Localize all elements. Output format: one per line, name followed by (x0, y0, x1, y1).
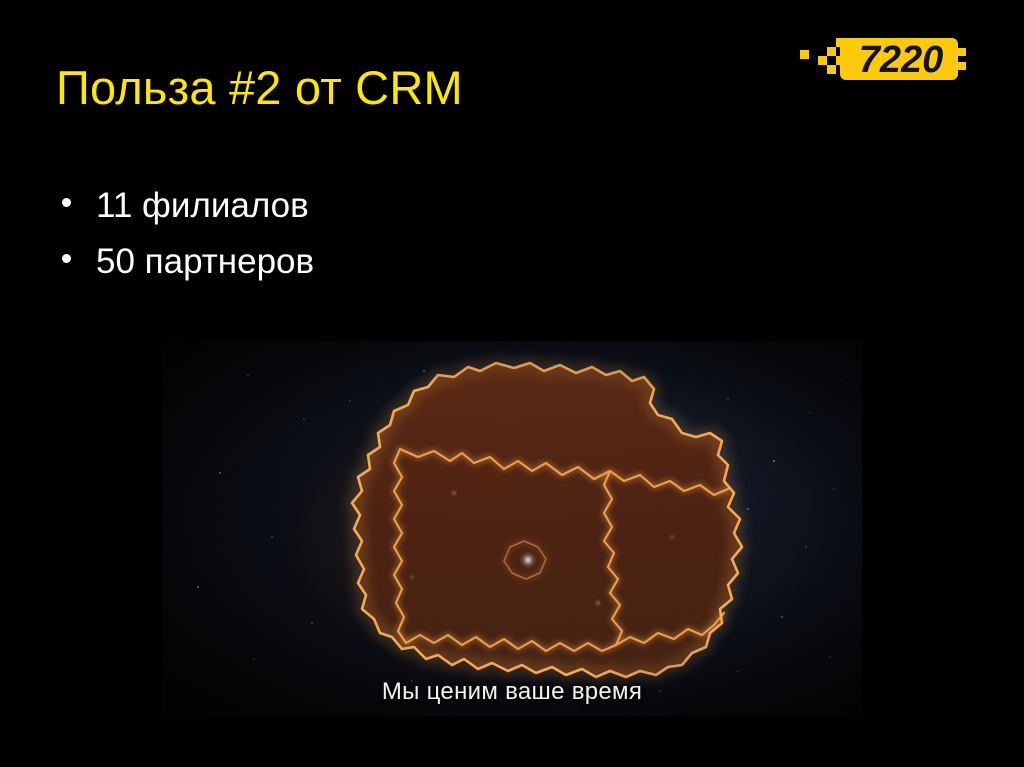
company-logo-7220[interactable]: 7220 (796, 30, 982, 88)
slide-image-belarus-map: Мы ценим ваше время (162, 341, 862, 716)
logo-svg: 7220 (796, 30, 982, 88)
belarus-map-illustration (162, 341, 862, 716)
bullet-dot-icon (56, 242, 96, 276)
logo-number: 7220 (859, 39, 944, 81)
list-item-label: 50 партнеров (96, 244, 314, 279)
list-item: 50 партнеров (56, 244, 756, 300)
bullet-list: 11 филиалов 50 партнеров (56, 188, 756, 300)
vignette-overlay (162, 341, 862, 716)
bullet-dot-icon (56, 186, 96, 220)
page-title: Польза #2 от CRM (56, 63, 463, 113)
slide-canvas: 7220 Польза #2 от CRM 11 филиалов 50 пар… (0, 0, 1024, 767)
list-item: 11 филиалов (56, 188, 756, 244)
list-item-label: 11 филиалов (96, 188, 309, 223)
